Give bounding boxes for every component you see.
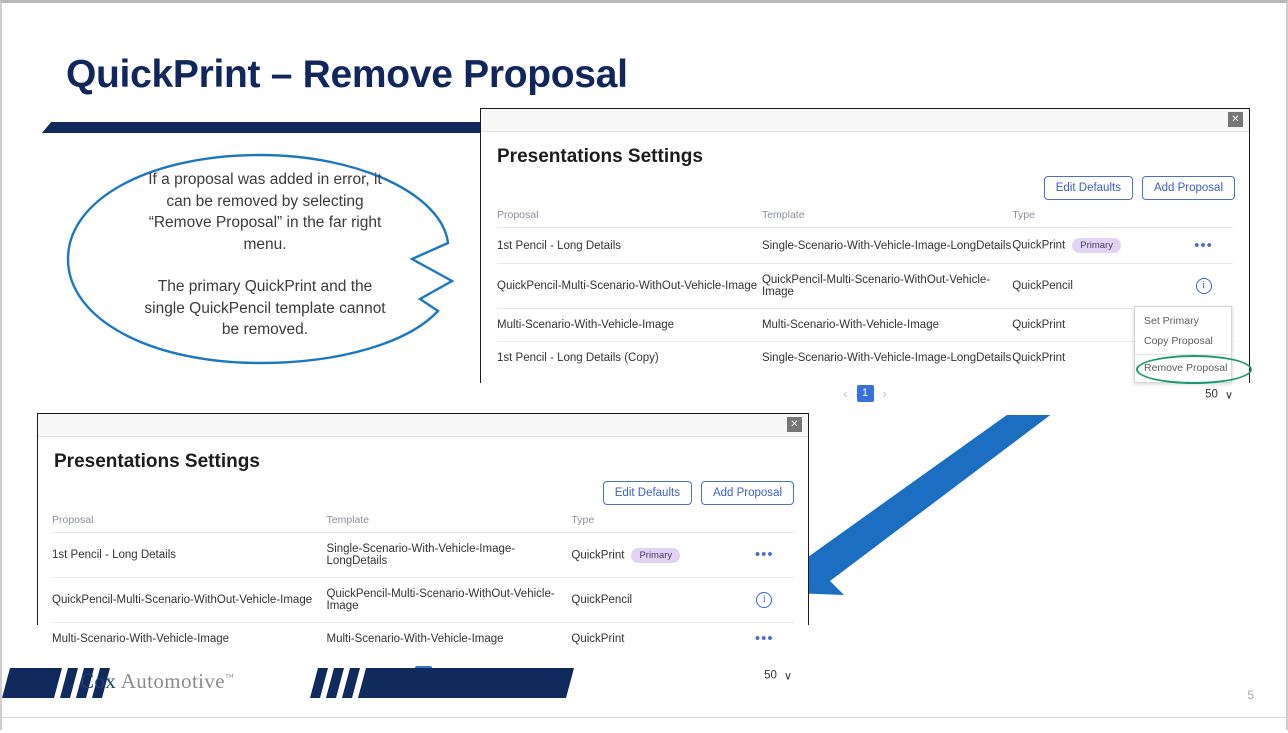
cell-template: Multi-Scenario-With-Vehicle-Image — [762, 309, 1012, 342]
column-header-template: Template — [327, 505, 572, 533]
callout-line-3: “Remove Proposal” in the far right — [106, 212, 424, 234]
page-size-value: 50 — [764, 670, 777, 682]
callout-line-7: be removed. — [106, 319, 424, 341]
cell-actions: i — [1174, 264, 1233, 309]
page-size-value: 50 — [1205, 389, 1218, 401]
callout-line-2: can be removed by selecting — [106, 191, 424, 213]
row-menu-icon[interactable]: ••• — [1174, 242, 1233, 250]
callout-line-6: single QuickPencil template cannot — [106, 298, 424, 320]
column-header-template: Template — [762, 200, 1012, 228]
pagination-prev[interactable]: ‹ — [843, 386, 847, 401]
table-header-row: Proposal Template Type — [52, 505, 794, 533]
callout-line-4: menu. — [106, 234, 424, 256]
dialog-actions-top: Edit Defaults Add Proposal — [481, 168, 1249, 200]
cell-actions: ••• — [735, 623, 794, 656]
callout-line-5: The primary QuickPrint and the — [106, 276, 424, 298]
row-context-menu: Set Primary Copy Proposal Remove Proposa… — [1134, 306, 1232, 383]
brand-wordmark: Cox Automotive™ — [80, 669, 234, 694]
cell-template: Multi-Scenario-With-Vehicle-Image — [327, 623, 572, 656]
callout-text: If a proposal was added in error, it can… — [106, 169, 424, 341]
page-size-selector[interactable]: 50 ∨ — [1205, 388, 1233, 401]
page-size-selector[interactable]: 50 ∨ — [764, 669, 792, 682]
dialog-heading: Presentations Settings — [481, 132, 1249, 168]
proposals-table-top: Proposal Template Type 1st Pencil - Long… — [497, 200, 1233, 374]
slide-canvas: QuickPrint – Remove Proposal If a propos… — [0, 0, 1288, 730]
brand-automotive: Automotive — [121, 669, 225, 693]
presentations-settings-dialog-bottom: ✕ Presentations Settings Edit Defaults A… — [37, 413, 809, 625]
chevron-down-icon: ∨ — [1225, 388, 1233, 401]
info-icon[interactable]: i — [1196, 278, 1212, 294]
type-label: QuickPrint — [1012, 240, 1065, 252]
info-icon[interactable]: i — [756, 592, 772, 608]
menu-item-set-primary[interactable]: Set Primary — [1135, 311, 1231, 331]
cell-actions: i — [735, 578, 794, 623]
slide-page-number: 5 — [1247, 688, 1254, 702]
menu-item-copy-proposal[interactable]: Copy Proposal — [1135, 331, 1231, 351]
table-row[interactable]: QuickPencil-Multi-Scenario-WithOut-Vehic… — [52, 578, 794, 623]
chevron-down-icon: ∨ — [784, 669, 792, 682]
cell-proposal[interactable]: 1st Pencil - Long Details — [52, 533, 327, 578]
cell-proposal[interactable]: QuickPencil-Multi-Scenario-WithOut-Vehic… — [52, 578, 327, 623]
table-row[interactable]: Multi-Scenario-With-Vehicle-Image Multi-… — [497, 309, 1233, 342]
cell-actions: ••• — [735, 533, 794, 578]
dialog-titlebar-top: ✕ — [481, 109, 1249, 132]
table-header-row: Proposal Template Type — [497, 200, 1233, 228]
pagination-page-1[interactable]: 1 — [857, 385, 874, 402]
footer-divider — [2, 717, 1288, 718]
add-proposal-button[interactable]: Add Proposal — [701, 481, 794, 505]
cell-type: QuickPencil — [571, 578, 734, 623]
dialog-titlebar-bottom: ✕ — [38, 414, 808, 437]
cell-template: QuickPencil-Multi-Scenario-WithOut-Vehic… — [762, 264, 1012, 309]
table-row[interactable]: QuickPencil-Multi-Scenario-WithOut-Vehic… — [497, 264, 1233, 309]
cell-type: QuickPencil — [1012, 264, 1174, 309]
dialog-actions-bottom: Edit Defaults Add Proposal — [38, 473, 808, 505]
column-header-actions — [1174, 200, 1233, 228]
edit-defaults-button[interactable]: Edit Defaults — [1044, 176, 1133, 200]
cell-proposal[interactable]: 1st Pencil - Long Details (Copy) — [497, 342, 762, 375]
column-header-type: Type — [571, 505, 734, 533]
menu-divider — [1135, 354, 1231, 355]
dialog-body-bottom: Presentations Settings Edit Defaults Add… — [38, 437, 808, 696]
cell-type: QuickPrint — [571, 623, 734, 656]
table-row[interactable]: Multi-Scenario-With-Vehicle-Image Multi-… — [52, 623, 794, 656]
cell-proposal[interactable]: Multi-Scenario-With-Vehicle-Image — [52, 623, 327, 656]
cell-proposal[interactable]: 1st Pencil - Long Details — [497, 228, 762, 264]
menu-item-remove-proposal[interactable]: Remove Proposal — [1135, 358, 1231, 378]
cell-proposal[interactable]: QuickPencil-Multi-Scenario-WithOut-Vehic… — [497, 264, 762, 309]
proposals-table-bottom: Proposal Template Type 1st Pencil - Long… — [52, 505, 794, 655]
cell-type: QuickPrintPrimary — [571, 533, 734, 578]
close-icon[interactable]: ✕ — [787, 417, 802, 432]
dialog-heading: Presentations Settings — [38, 437, 808, 473]
close-icon[interactable]: ✕ — [1228, 112, 1243, 127]
cell-template: Single-Scenario-With-Vehicle-Image-LongD… — [762, 228, 1012, 264]
cell-actions: ••• — [1174, 228, 1233, 264]
cell-template: Single-Scenario-With-Vehicle-Image-LongD… — [762, 342, 1012, 375]
column-header-actions — [735, 505, 794, 533]
cell-template: QuickPencil-Multi-Scenario-WithOut-Vehic… — [327, 578, 572, 623]
add-proposal-button[interactable]: Add Proposal — [1142, 176, 1235, 200]
status-badge-primary: Primary — [1072, 238, 1121, 253]
callout-line-1: If a proposal was added in error, it — [106, 169, 424, 191]
status-badge-primary: Primary — [631, 548, 680, 563]
pagination-next[interactable]: › — [883, 386, 887, 401]
row-menu-icon[interactable]: ••• — [735, 635, 794, 643]
table-row[interactable]: 1st Pencil - Long Details (Copy) Single-… — [497, 342, 1233, 375]
cell-proposal[interactable]: Multi-Scenario-With-Vehicle-Image — [497, 309, 762, 342]
table-row[interactable]: 1st Pencil - Long Details Single-Scenari… — [497, 228, 1233, 264]
column-header-proposal: Proposal — [497, 200, 762, 228]
edit-defaults-button[interactable]: Edit Defaults — [603, 481, 692, 505]
cell-type: QuickPrintPrimary — [1012, 228, 1174, 264]
type-label: QuickPrint — [571, 549, 624, 561]
table-row[interactable]: 1st Pencil - Long Details Single-Scenari… — [52, 533, 794, 578]
title-underline-bar — [42, 122, 497, 133]
brand-cox: Cox — [80, 669, 121, 693]
column-header-proposal: Proposal — [52, 505, 327, 533]
page-title: QuickPrint – Remove Proposal — [66, 53, 628, 97]
trademark-symbol: ™ — [225, 672, 234, 682]
cell-template: Single-Scenario-With-Vehicle-Image-LongD… — [327, 533, 572, 578]
callout-bubble: If a proposal was added in error, it can… — [60, 151, 470, 373]
row-menu-icon[interactable]: ••• — [735, 551, 794, 559]
column-header-type: Type — [1012, 200, 1174, 228]
